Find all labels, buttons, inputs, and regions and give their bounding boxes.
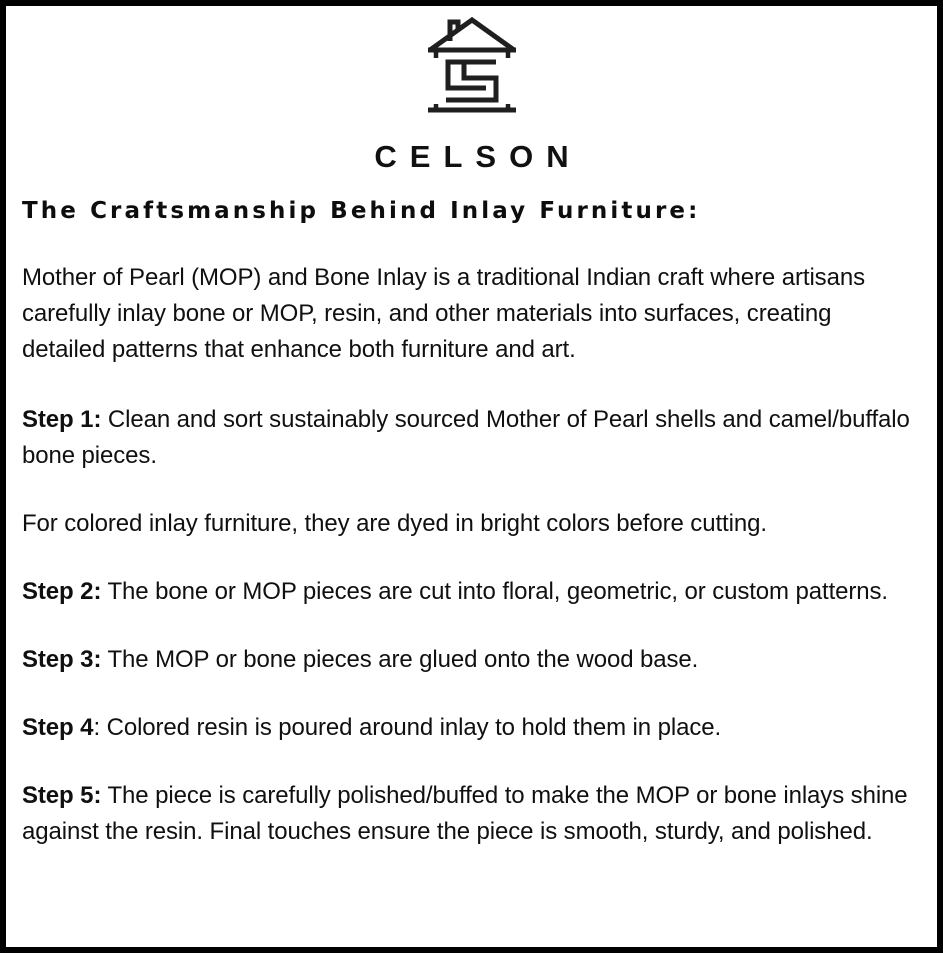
poster-frame: CELSON The Craftsmanship Behind Inlay Fu… <box>0 0 943 953</box>
step-paragraph: Step 4: Colored resin is poured around i… <box>22 710 912 746</box>
step-text: Colored resin is poured around inlay to … <box>100 714 721 741</box>
step-text: The piece is carefully polished/buffed t… <box>22 782 908 845</box>
step-paragraph: Step 3: The MOP or bone pieces are glued… <box>22 642 912 678</box>
step-label: Step 3 <box>22 646 93 673</box>
step-label: Step 1 <box>22 406 93 433</box>
note-paragraph: For colored inlay furniture, they are dy… <box>22 506 912 542</box>
step-text: Clean and sort sustainably sourced Mothe… <box>22 406 910 469</box>
step-text: The MOP or bone pieces are glued onto th… <box>101 646 698 673</box>
intro-paragraph: Mother of Pearl (MOP) and Bone Inlay is … <box>22 260 912 368</box>
brand-header: CELSON <box>6 6 937 172</box>
step-paragraph: Step 2: The bone or MOP pieces are cut i… <box>22 574 912 610</box>
step-paragraph: Step 1: Clean and sort sustainably sourc… <box>22 402 912 474</box>
step-label: Step 4 <box>22 714 93 741</box>
step-label: Step 2 <box>22 578 93 605</box>
step-label: Step 5 <box>22 782 93 809</box>
house-monogram-icon <box>424 16 520 127</box>
step-text: The bone or MOP pieces are cut into flor… <box>101 578 888 605</box>
note-text: For colored inlay furniture, they are dy… <box>22 510 767 537</box>
article-body: Mother of Pearl (MOP) and Bone Inlay is … <box>22 260 912 850</box>
page-title: The Craftsmanship Behind Inlay Furniture… <box>22 198 937 226</box>
brand-name: CELSON <box>361 141 581 172</box>
step-paragraph: Step 5: The piece is carefully polished/… <box>22 778 912 850</box>
